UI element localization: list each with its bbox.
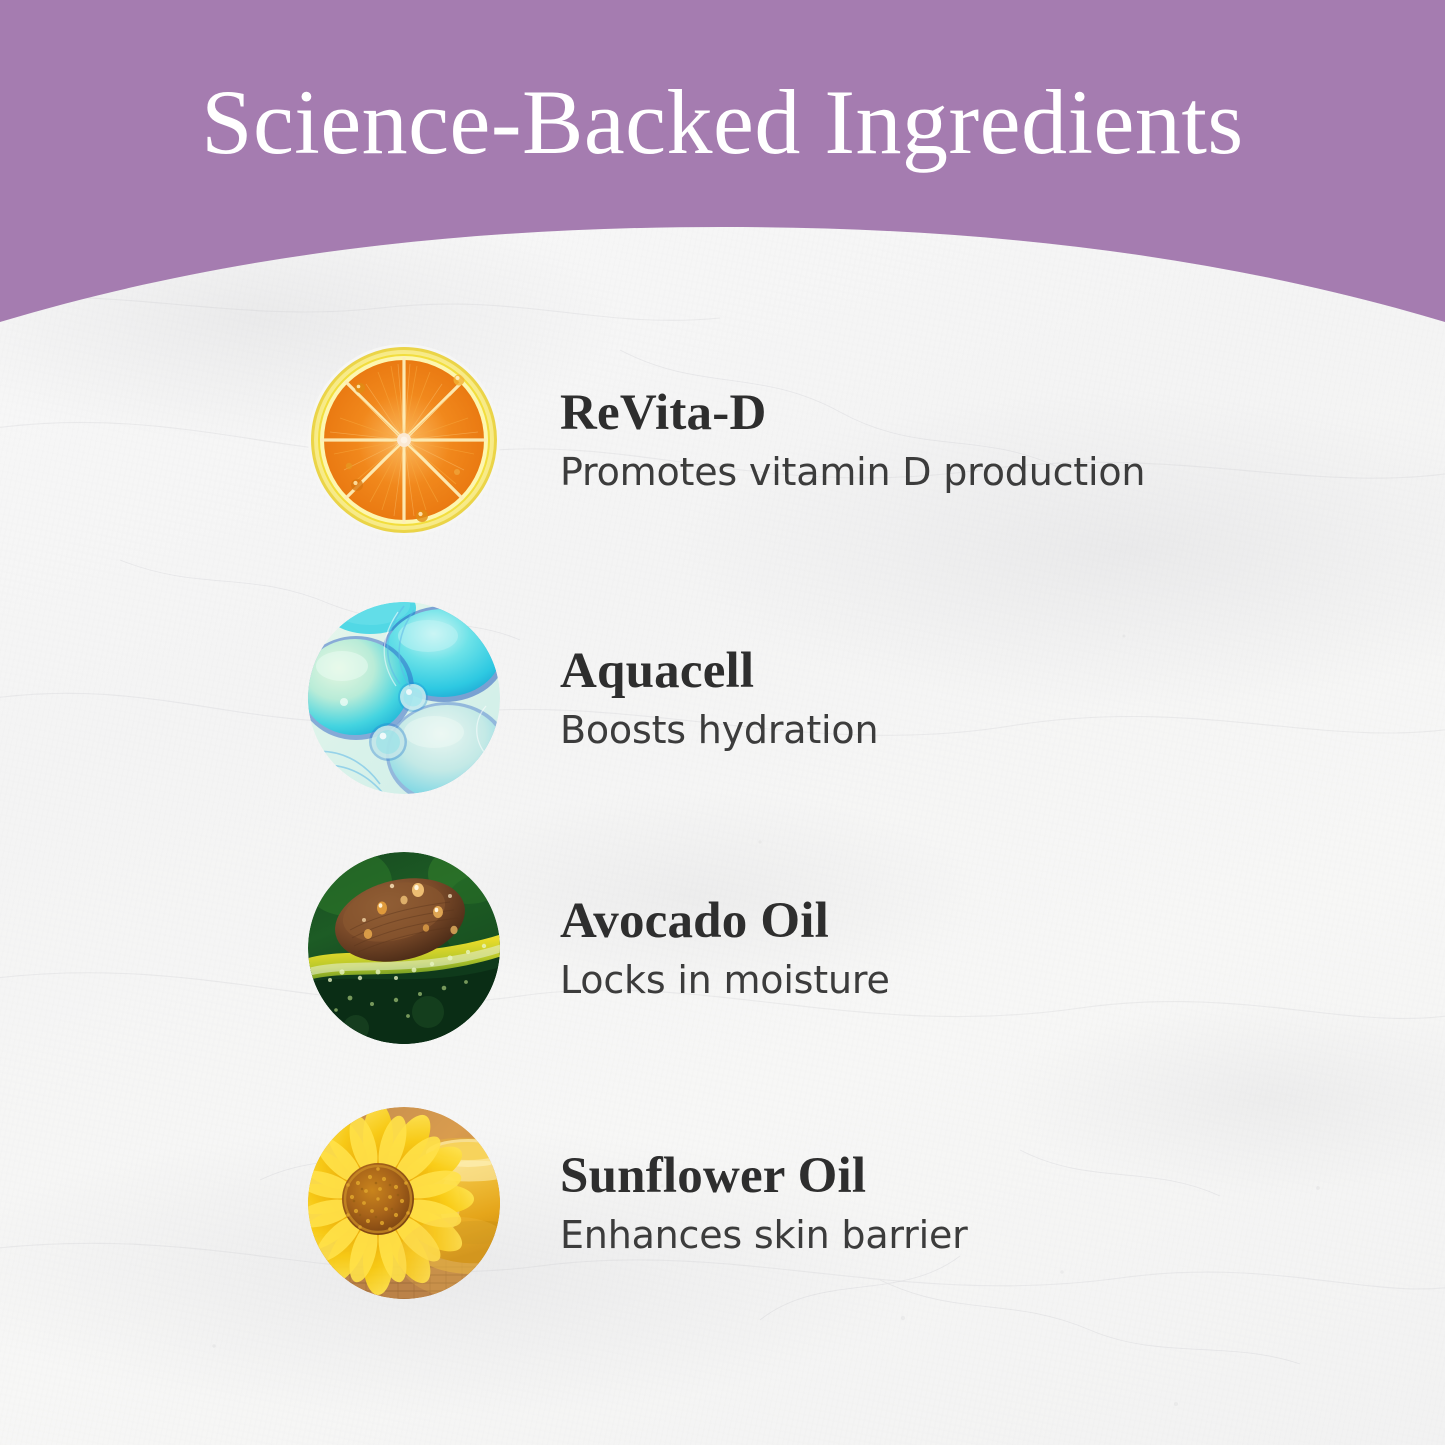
- orange-slice-photo: [308, 344, 500, 536]
- sunflower-oil-photo: [308, 1107, 500, 1299]
- list-item[interactable]: Sunflower Oil Enhances skin barrier: [308, 1107, 1308, 1299]
- ingredient-text: Sunflower Oil Enhances skin barrier: [560, 1151, 968, 1256]
- ingredient-name: Sunflower Oil: [560, 1151, 968, 1202]
- list-item[interactable]: Aquacell Boosts hydration: [308, 602, 1308, 794]
- avocado-photo: [308, 852, 500, 1044]
- ingredient-name: Aquacell: [560, 646, 878, 697]
- ingredients-infographic: Science-Backed Ingredients: [0, 0, 1445, 1445]
- ingredient-name: Avocado Oil: [560, 896, 890, 947]
- ingredient-name: ReVita-D: [560, 388, 1145, 439]
- ingredient-description: Enhances skin barrier: [560, 1216, 968, 1256]
- ingredient-text: Aquacell Boosts hydration: [560, 646, 878, 751]
- ingredient-text: ReVita-D Promotes vitamin D production: [560, 388, 1145, 493]
- ingredient-description: Locks in moisture: [560, 961, 890, 1001]
- ingredient-description: Boosts hydration: [560, 711, 878, 751]
- list-item[interactable]: Avocado Oil Locks in moisture: [308, 852, 1308, 1044]
- ingredient-list: ReVita-D Promotes vitamin D production: [0, 0, 1445, 1445]
- water-bubbles-photo: [308, 602, 500, 794]
- ingredient-text: Avocado Oil Locks in moisture: [560, 896, 890, 1001]
- ingredient-description: Promotes vitamin D production: [560, 453, 1145, 493]
- list-item[interactable]: ReVita-D Promotes vitamin D production: [308, 344, 1308, 536]
